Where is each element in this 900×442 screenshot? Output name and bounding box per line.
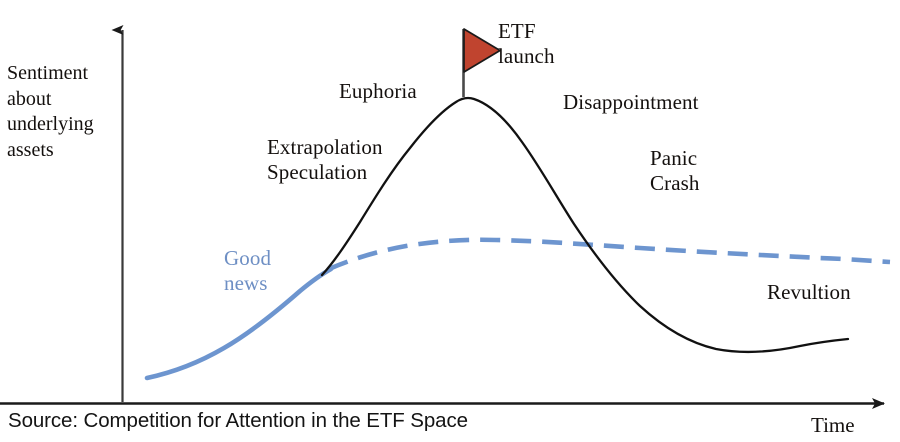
black-hype-curve bbox=[322, 98, 848, 352]
annotation-euphoria: Euphoria bbox=[339, 79, 417, 104]
y-axis-label: Sentiment about underlying assets bbox=[7, 61, 94, 163]
annotation-panic-crash: Panic Crash bbox=[650, 146, 700, 196]
chart-canvas: Sentiment about underlying assets Euphor… bbox=[0, 0, 900, 442]
blue-dashed-curve bbox=[329, 240, 890, 269]
annotation-good-news: Good news bbox=[224, 246, 271, 296]
annotation-disappointment: Disappointment bbox=[563, 90, 699, 115]
x-axis-label: Time bbox=[811, 413, 855, 438]
annotation-extrapolation-speculation: Extrapolation Speculation bbox=[267, 135, 383, 185]
annotation-revultion: Revultion bbox=[767, 280, 851, 305]
hype-cycle-chart bbox=[0, 0, 900, 442]
annotation-etf-launch: ETF launch bbox=[498, 19, 555, 69]
etf-launch-flag-icon bbox=[464, 29, 500, 72]
source-note: Source: Competition for Attention in the… bbox=[8, 409, 468, 433]
